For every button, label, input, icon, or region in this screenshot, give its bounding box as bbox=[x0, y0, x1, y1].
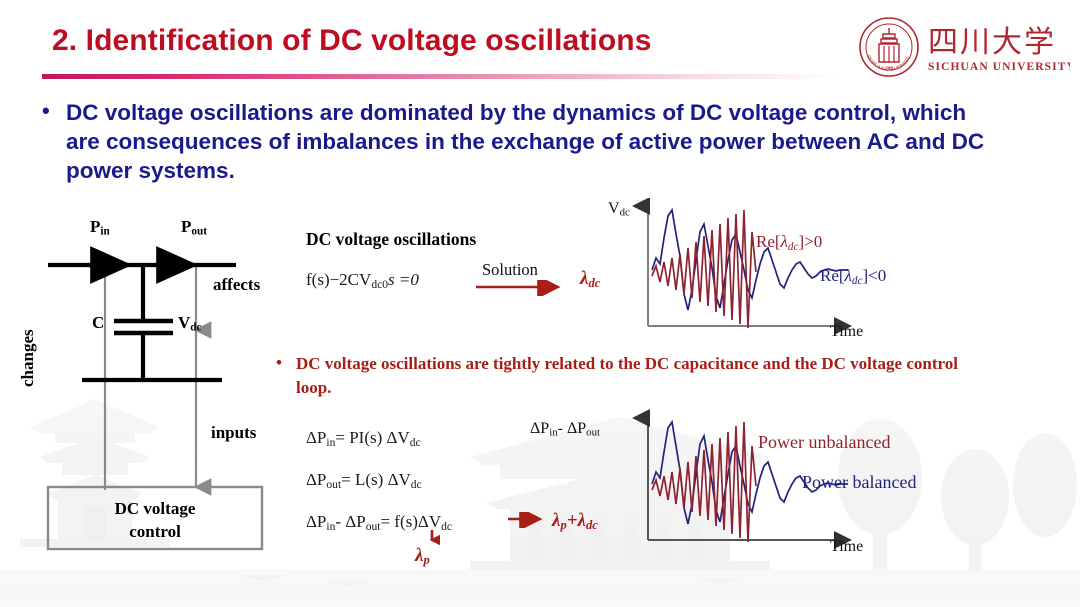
chart-vdc: Vdc Time Re[λdc]>0 Re[λdc]<0 bbox=[612, 198, 1012, 348]
control-block-line1: DC voltage bbox=[115, 499, 196, 518]
solution-arrow bbox=[474, 280, 570, 296]
lambda-dc-result: λdc bbox=[580, 268, 600, 291]
solution-arrow-label: Solution bbox=[482, 260, 538, 280]
chart-power-legend-balanced: Power balanced bbox=[802, 472, 916, 493]
label-v-dc: Vdc bbox=[178, 313, 202, 333]
sub-bullet-text: DC voltage oscillations are tightly rela… bbox=[296, 352, 986, 400]
svg-text:四川大学: 四川大学 bbox=[928, 26, 1056, 59]
label-capacitor-c: C bbox=[92, 313, 104, 333]
title-underline-rule bbox=[42, 74, 842, 79]
chart-vdc-legend-growing: Re[λdc]>0 bbox=[756, 232, 822, 253]
sub-bullet: • DC voltage oscillations are tightly re… bbox=[276, 352, 986, 400]
equation-delta-pout: ΔPout= L(s) ΔVdc bbox=[306, 470, 422, 491]
chart-vdc-y-axis-label: Vdc bbox=[608, 200, 630, 219]
label-p-out: Pout bbox=[181, 217, 207, 237]
chart-power-legend-unbalanced: Power unbalanced bbox=[758, 432, 890, 453]
control-block-line2: control bbox=[129, 522, 181, 541]
label-affects: affects bbox=[213, 275, 260, 295]
label-p-in: Pin bbox=[90, 217, 110, 237]
main-bullet: • DC voltage oscillations are dominated … bbox=[42, 98, 1002, 185]
chart-power: ΔPin- ΔPout Time Power unbalanced Power … bbox=[520, 408, 1000, 578]
page-title: 2. Identification of DC voltage oscillat… bbox=[52, 24, 651, 58]
label-changes: changes bbox=[18, 329, 38, 387]
university-seal-icon: 1896 SICHUAN UNIVERSITY bbox=[860, 18, 918, 76]
equation-characteristic: f(s)−2CVdc0s =0 bbox=[306, 270, 419, 291]
lambda-p: λp bbox=[415, 545, 430, 568]
university-name-cn: 四川大学 bbox=[928, 26, 1056, 59]
main-bullet-text: DC voltage oscillations are dominated by… bbox=[66, 98, 1002, 185]
chart-vdc-x-axis-label: Time bbox=[830, 323, 863, 341]
control-block-label: DC voltage control bbox=[48, 497, 262, 543]
chart-vdc-legend-damped: Re[λdc]<0 bbox=[820, 266, 886, 287]
chart-power-y-axis-label: ΔPin- ΔPout bbox=[530, 420, 600, 439]
chart-power-x-axis-label: Time bbox=[830, 538, 863, 556]
university-name-en: SICHUAN UNIVERSITY bbox=[928, 61, 1070, 73]
bullet-marker: • bbox=[42, 96, 50, 125]
label-inputs: inputs bbox=[211, 423, 256, 443]
dc-circuit-diagram: Pin Pout affects C Vdc inputs changes DC… bbox=[36, 215, 298, 555]
slide-root: 2. Identification of DC voltage oscillat… bbox=[0, 0, 1080, 607]
equation-delta-pin: ΔPin= PI(s) ΔVdc bbox=[306, 428, 421, 449]
equations-heading: DC voltage oscillations bbox=[306, 229, 476, 250]
sub-bullet-marker: • bbox=[276, 351, 282, 375]
sichuan-university-logo: 1896 SICHUAN UNIVERSITY 四川大学 SICHUAN UNI… bbox=[858, 16, 1070, 78]
